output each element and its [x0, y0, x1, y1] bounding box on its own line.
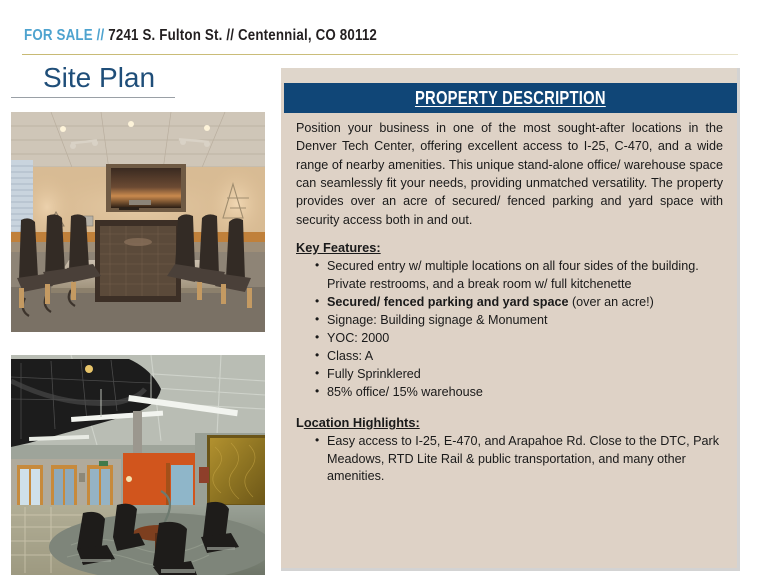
- header-listing-line: FOR SALE // 7241 S. Fulton St. // Centen…: [24, 27, 377, 45]
- list-item: Fully Sprinklered: [327, 366, 723, 384]
- list-item: YOC: 2000: [327, 330, 723, 348]
- location-heading-rest: ocation Highlights:: [304, 415, 420, 430]
- list-item-text: Easy access to I-25, E-470, and Arapahoe…: [327, 434, 719, 483]
- list-item: Secured entry w/ multiple locations on a…: [327, 258, 723, 293]
- conference-room-photo: [11, 112, 265, 332]
- list-item-text: Secured entry w/ multiple locations on a…: [327, 259, 699, 291]
- list-item-text: 85% office/ 15% warehouse: [327, 385, 483, 399]
- list-item: Easy access to I-25, E-470, and Arapahoe…: [327, 433, 723, 486]
- location-highlights-heading: Location Highlights:: [296, 414, 420, 432]
- panel-top-strip: [281, 68, 737, 83]
- page-header: FOR SALE // 7241 S. Fulton St. // Centen…: [0, 0, 761, 58]
- list-item: Class: A: [327, 348, 723, 366]
- property-address: 7241 S. Fulton St. // Centennial, CO 801…: [104, 27, 377, 44]
- location-highlights-block: Location Highlights: Easy access to I-25…: [296, 414, 723, 486]
- lobby-illustration: [11, 355, 265, 575]
- location-highlights-list: Easy access to I-25, E-470, and Arapahoe…: [296, 433, 723, 486]
- for-sale-label: FOR SALE //: [24, 27, 104, 44]
- intro-paragraph: Position your business in one of the mos…: [296, 119, 723, 229]
- list-item-text: Signage: Building signage & Monument: [327, 313, 548, 327]
- key-features-list: Secured entry w/ multiple locations on a…: [296, 258, 723, 402]
- list-item-text: Fully Sprinklered: [327, 367, 421, 381]
- list-item-bold-text: Secured/ fenced parking and yard space: [327, 295, 568, 309]
- property-description-body: Position your business in one of the mos…: [281, 113, 737, 568]
- property-description-panel: PROPERTY DESCRIPTION Position your busin…: [281, 68, 740, 571]
- lobby-photo: [11, 355, 265, 575]
- location-heading-lead: L: [296, 415, 304, 430]
- page-title-underline: [11, 97, 175, 98]
- list-item-text: (over an acre!): [568, 295, 653, 309]
- conference-room-illustration: [11, 112, 265, 332]
- key-features-heading: Key Features:: [296, 239, 381, 257]
- list-item-text: Class: A: [327, 349, 373, 363]
- property-description-header-bar: PROPERTY DESCRIPTION: [284, 83, 737, 113]
- key-features-block: Key Features: Secured entry w/ multiple …: [296, 239, 723, 402]
- property-description-title: PROPERTY DESCRIPTION: [415, 88, 606, 109]
- list-item: 85% office/ 15% warehouse: [327, 384, 723, 402]
- header-divider: [22, 54, 738, 55]
- list-item: Signage: Building signage & Monument: [327, 312, 723, 330]
- list-item-text: YOC: 2000: [327, 331, 389, 345]
- list-item: Secured/ fenced parking and yard space (…: [327, 294, 723, 312]
- page-title: Site Plan: [43, 62, 155, 94]
